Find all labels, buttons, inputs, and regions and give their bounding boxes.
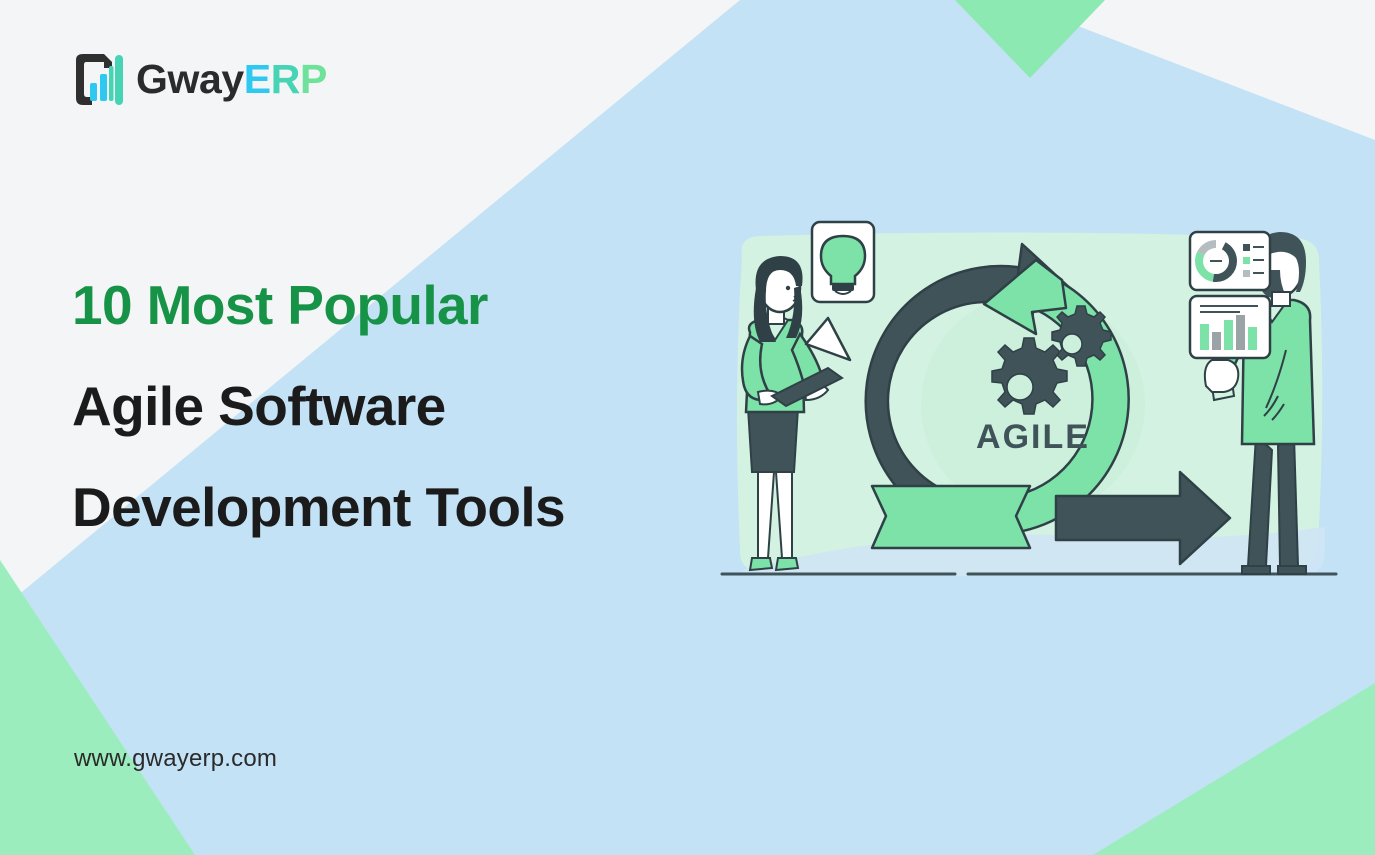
eye-icon	[786, 286, 790, 290]
agile-cycle-illustration: AGILE	[700, 200, 1360, 620]
page-title: 10 Most Popular Agile Software Developme…	[72, 278, 732, 535]
brand-logo[interactable]: GwayERP	[68, 46, 368, 112]
chart-bars-logo-icon	[68, 50, 126, 108]
brand-wordmark: GwayERP	[136, 59, 327, 100]
bar	[1224, 320, 1233, 350]
bar	[1248, 327, 1257, 350]
wordmark-p: P	[300, 56, 327, 102]
bar	[1236, 315, 1245, 350]
headline-line-1: 10 Most Popular	[72, 278, 732, 333]
wordmark-e: E	[244, 56, 271, 102]
headline-line-3: Development Tools	[72, 480, 732, 535]
donut-chart-card	[1190, 232, 1270, 290]
bar-chart-card	[1190, 296, 1270, 358]
poster-canvas: AGILE	[0, 0, 1375, 855]
wordmark-gway: Gway	[136, 56, 244, 102]
wordmark-r: R	[271, 56, 300, 102]
bar	[1212, 332, 1221, 350]
website-url[interactable]: www.gwayerp.com	[74, 745, 277, 773]
headline-line-2: Agile Software	[72, 379, 732, 434]
green-ribbon-banner	[872, 486, 1030, 548]
bar	[1200, 324, 1209, 350]
agile-center-label: AGILE	[976, 418, 1090, 456]
